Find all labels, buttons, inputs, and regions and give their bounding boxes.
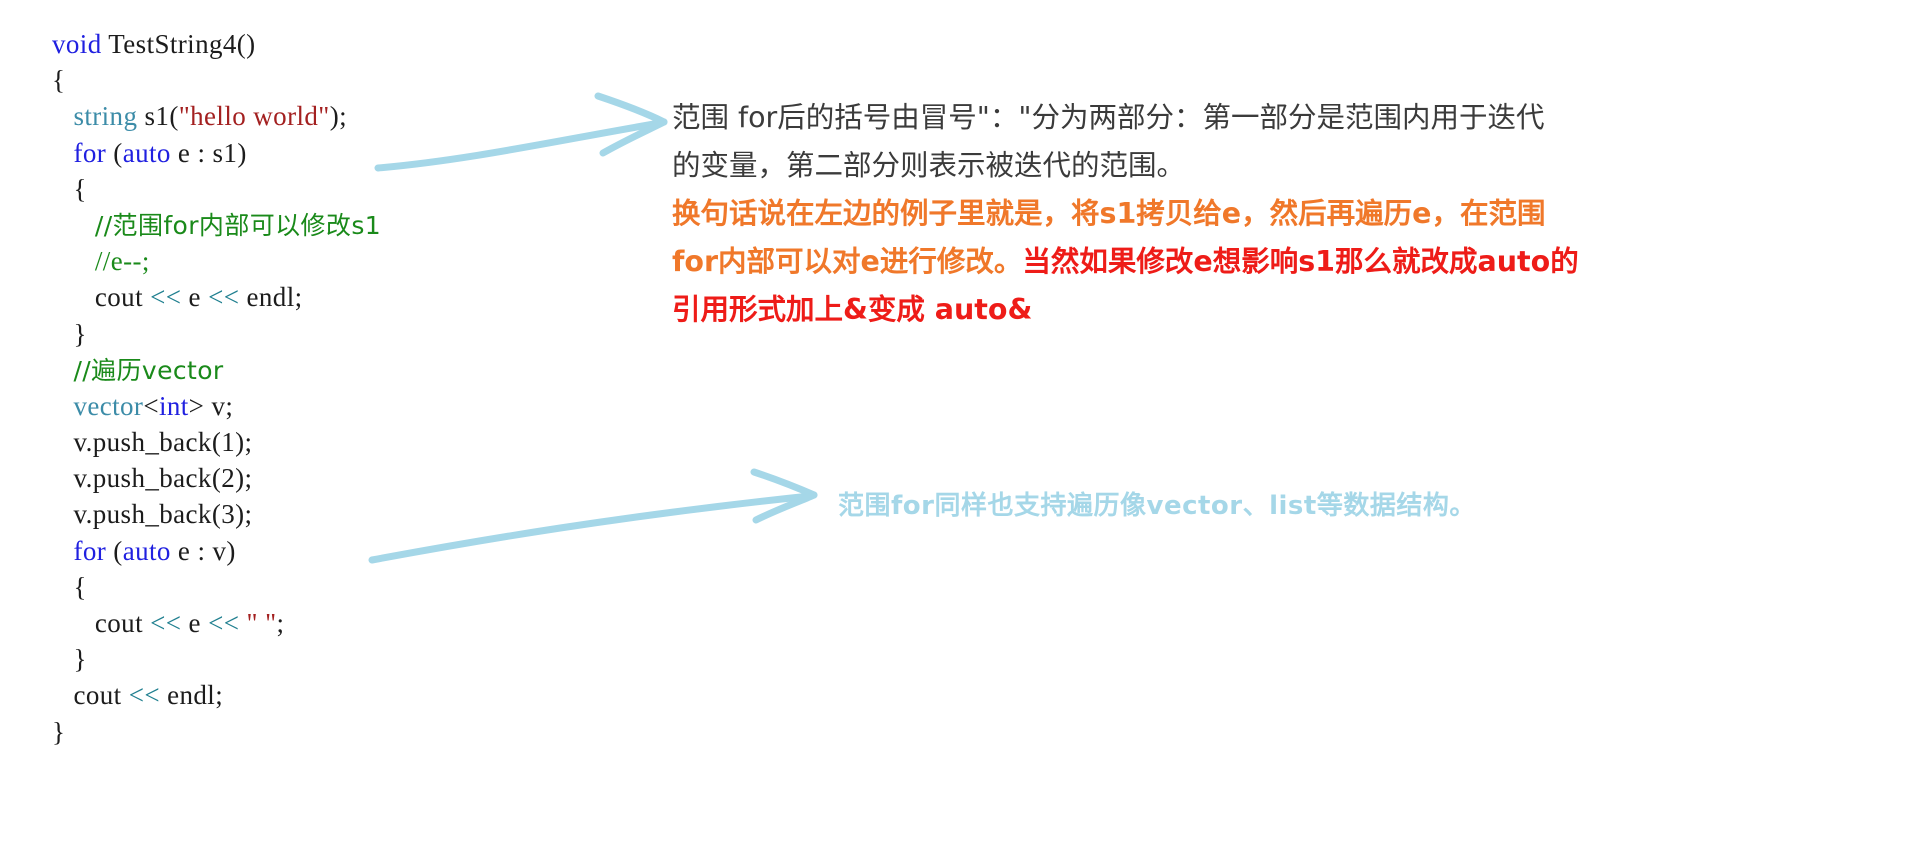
code-line: void TestString4() xyxy=(52,26,652,62)
code-line: vector<int> v; xyxy=(52,388,652,424)
code-token xyxy=(52,246,95,276)
code-token: cout xyxy=(52,282,150,312)
code-token: "hello world" xyxy=(179,101,330,131)
code-token: << xyxy=(129,680,160,710)
code-line: cout << e << endl; xyxy=(52,279,652,315)
code-token: int xyxy=(159,391,189,421)
code-token: auto xyxy=(123,536,171,566)
code-token xyxy=(52,210,95,240)
code-token: //遍历vector xyxy=(73,356,223,385)
code-line: //范围for内部可以修改s1 xyxy=(52,207,652,243)
code-token xyxy=(52,355,73,385)
code-line: cout << endl; xyxy=(52,677,652,713)
code-token: ( xyxy=(106,536,123,566)
code-token xyxy=(52,138,73,168)
code-token: { xyxy=(52,572,87,602)
annotation-line: 的变量，第二部分则表示被迭代的范围。 xyxy=(672,142,1902,190)
annotation-line: 换句话说在左边的例子里就是，将s1拷贝给e，然后再遍历e，在范围 xyxy=(672,190,1902,238)
annotation-segment: 范围 for后的括号由冒号"："分为两部分：第一部分是范围内用于迭代 xyxy=(672,101,1544,134)
code-token: cout xyxy=(52,680,129,710)
code-token: { xyxy=(52,65,65,95)
code-token: << xyxy=(208,282,239,312)
code-token: endl; xyxy=(239,282,302,312)
code-token: //e--; xyxy=(95,246,150,276)
code-token xyxy=(239,608,246,638)
code-token: v.push_back(2); xyxy=(52,463,252,493)
code-token: //范围for内部可以修改s1 xyxy=(95,211,381,240)
code-token: << xyxy=(208,608,239,638)
code-token xyxy=(52,536,73,566)
code-line: v.push_back(1); xyxy=(52,424,652,460)
code-line: } xyxy=(52,641,652,677)
code-token: " " xyxy=(247,608,277,638)
annotation-segment: 当然如果修改e想影响s1那么就改成auto的 xyxy=(1022,245,1578,278)
code-token: e xyxy=(181,608,208,638)
code-line: } xyxy=(52,316,652,352)
code-token: void xyxy=(52,29,108,59)
code-line: { xyxy=(52,62,652,98)
code-block: void TestString4(){ string s1("hello wor… xyxy=(52,26,652,750)
code-token: e : v) xyxy=(171,536,236,566)
code-token xyxy=(52,101,73,131)
code-line: //遍历vector xyxy=(52,352,652,388)
annotation-top-note: 范围 for后的括号由冒号"："分为两部分：第一部分是范围内用于迭代的变量，第二… xyxy=(672,94,1902,334)
annotation-segment: 引用形式加上&变成 auto& xyxy=(672,293,1032,326)
code-token xyxy=(52,391,73,421)
code-token: ( xyxy=(106,138,123,168)
code-line: { xyxy=(52,171,652,207)
code-line: { xyxy=(52,569,652,605)
code-token: } xyxy=(52,717,65,747)
annotation-segment: for内部可以对e进行修改。 xyxy=(672,245,1022,278)
code-token: TestString4() xyxy=(108,29,255,59)
code-token: v.push_back(3); xyxy=(52,499,252,529)
code-token: << xyxy=(150,608,181,638)
code-token: } xyxy=(52,644,87,674)
code-line: cout << e << " "; xyxy=(52,605,652,641)
code-token: endl; xyxy=(160,680,223,710)
code-token: cout xyxy=(52,608,150,638)
code-token: < xyxy=(143,391,159,421)
code-token: v.push_back(1); xyxy=(52,427,252,457)
code-token: for xyxy=(73,138,106,168)
code-line: string s1("hello world"); xyxy=(52,98,652,134)
code-token: e : s1) xyxy=(171,138,247,168)
code-line: //e--; xyxy=(52,243,652,279)
code-token: s1( xyxy=(137,101,178,131)
code-token: ); xyxy=(330,101,347,131)
code-token: vector xyxy=(73,391,143,421)
annotation-line: 引用形式加上&变成 auto& xyxy=(672,286,1902,334)
annotation-bottom-note: 范围for同样也支持遍历像vector、list等数据结构。 xyxy=(838,485,1476,522)
code-line: v.push_back(3); xyxy=(52,496,652,532)
annotation-segment: 的变量，第二部分则表示被迭代的范围。 xyxy=(672,149,1185,182)
code-line: } xyxy=(52,714,652,750)
code-line: for (auto e : s1) xyxy=(52,135,652,171)
code-token: for xyxy=(73,536,106,566)
code-line: v.push_back(2); xyxy=(52,460,652,496)
code-token: ; xyxy=(277,608,285,638)
code-line: for (auto e : v) xyxy=(52,533,652,569)
code-token: { xyxy=(52,174,87,204)
annotation-segment: 换句话说在左边的例子里就是，将s1拷贝给e，然后再遍历e，在范围 xyxy=(672,197,1545,230)
code-token: auto xyxy=(123,138,171,168)
annotation-line: 范围 for后的括号由冒号"："分为两部分：第一部分是范围内用于迭代 xyxy=(672,94,1902,142)
annotation-line: for内部可以对e进行修改。当然如果修改e想影响s1那么就改成auto的 xyxy=(672,238,1902,286)
code-token: << xyxy=(150,282,181,312)
code-token: > v; xyxy=(189,391,234,421)
code-token: } xyxy=(52,319,87,349)
code-token: e xyxy=(181,282,208,312)
code-token: string xyxy=(73,101,137,131)
